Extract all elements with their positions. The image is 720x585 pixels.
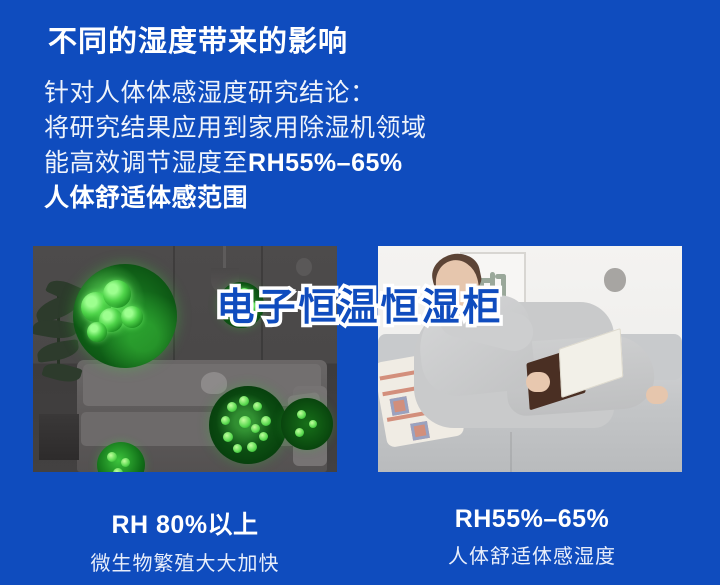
intro-paragraph: 针对人体体感湿度研究结论： 将研究结果应用到家用除湿机领域 能高效调节湿度至RH… xyxy=(44,76,664,216)
caption-right-subtitle: 人体舒适体感湿度 xyxy=(372,540,692,569)
intro-line-4: 人体舒适体感范围 xyxy=(44,181,664,216)
intro-line-2: 将研究结果应用到家用除湿机领域 xyxy=(44,111,664,146)
woman-foot xyxy=(646,386,668,404)
plant-pot-icon xyxy=(39,414,79,460)
intro-line-3: 能高效调节湿度至RH55%–65% xyxy=(44,146,664,181)
watermark-text: 电子恒温恒湿柜 xyxy=(0,276,720,331)
caption-right-title: RH55%–65% xyxy=(372,505,692,534)
caption-left-subtitle: 微生物繁殖大大加快 xyxy=(25,547,345,576)
virus-sphere-icon xyxy=(209,386,287,464)
plant-leaf-icon xyxy=(36,339,80,363)
wall-knob-icon xyxy=(296,258,312,276)
page-title: 不同的湿度带来的影响 xyxy=(48,18,348,60)
intro-line-3-prefix: 能高效调节湿度至 xyxy=(44,149,248,177)
bacteria-sphere-icon xyxy=(281,398,333,450)
sofa-cushion-seam xyxy=(510,432,512,472)
humidity-infographic-poster: 不同的湿度带来的影响 针对人体体感湿度研究结论： 将研究结果应用到家用除湿机领域… xyxy=(0,0,720,585)
woman-hand xyxy=(526,372,550,392)
sofa-ornament-icon xyxy=(201,372,227,394)
caption-high-humidity: RH 80%以上 微生物繁殖大大加快 xyxy=(25,505,345,576)
intro-line-3-range: RH55%–65% xyxy=(248,149,403,177)
caption-comfort-humidity: RH55%–65% 人体舒适体感湿度 xyxy=(372,505,692,569)
intro-line-1: 针对人体体感湿度研究结论： xyxy=(44,76,664,111)
caption-left-title: RH 80%以上 xyxy=(25,505,345,541)
